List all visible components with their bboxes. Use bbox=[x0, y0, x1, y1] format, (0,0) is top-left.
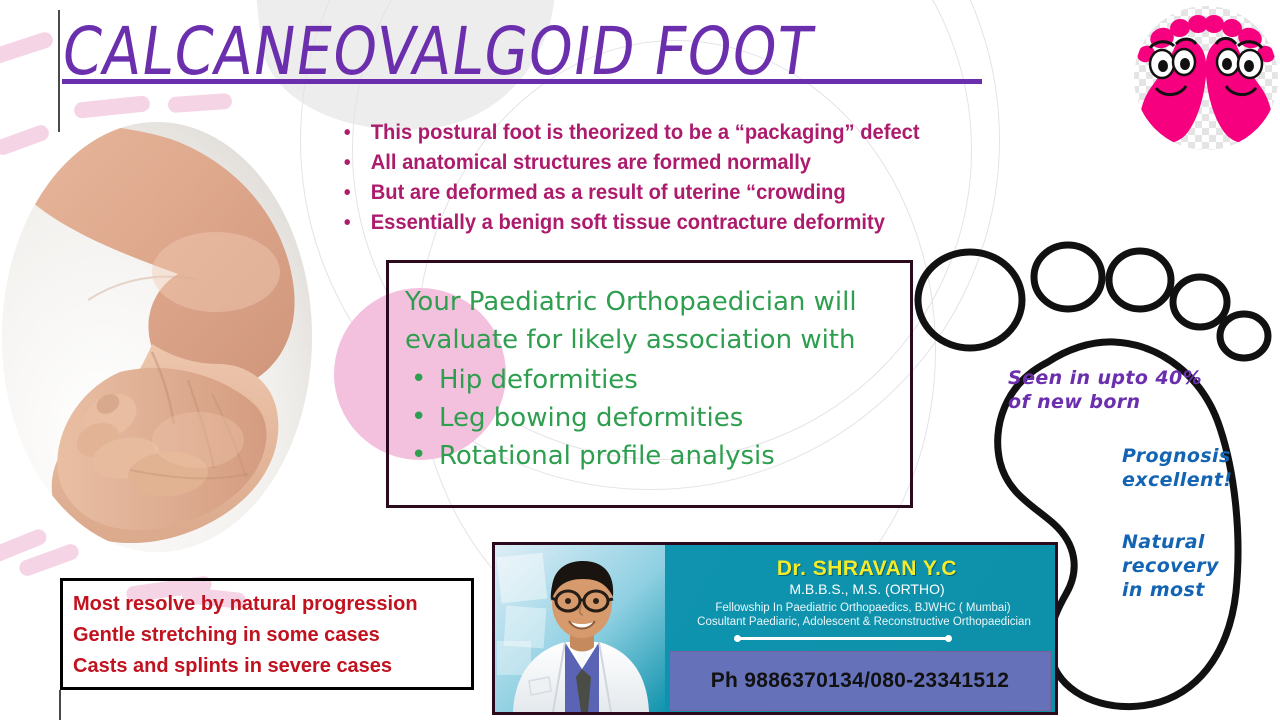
evaluation-intro-line1: Your Paediatric Orthopaedician will bbox=[405, 283, 896, 321]
prognosis-note: Prognosis excellent! bbox=[1122, 444, 1252, 492]
doctor-portrait-photo bbox=[495, 545, 665, 712]
list-item: Essentially a benign soft tissue contrac… bbox=[340, 208, 1118, 235]
prognosis-note-line1: Prognosis bbox=[1122, 444, 1252, 468]
doctor-fellowship: Fellowship In Paediatric Orthopaedics, B… bbox=[667, 602, 1058, 614]
slide-canvas: CALCANEOVALGOID FOOT bbox=[0, 0, 1280, 720]
doctor-card: Dr. SHRAVAN Y.C M.B.B.S., M.S. (ORTHO) F… bbox=[492, 542, 1058, 715]
doctor-degree: M.B.B.S., M.S. (ORTHO) bbox=[677, 581, 1057, 597]
evaluation-box: Your Paediatric Orthopaedician will eval… bbox=[386, 260, 913, 508]
evaluation-intro-line2: evaluate for likely association with bbox=[405, 321, 896, 359]
happy-feet-logo bbox=[1132, 2, 1280, 159]
list-item: Rotational profile analysis bbox=[405, 437, 896, 475]
doctor-phone-band[interactable]: Ph 9886370134/080-23341512 bbox=[669, 651, 1051, 711]
pink-dash-4 bbox=[168, 93, 233, 113]
treatment-line-3: Casts and splints in severe cases bbox=[73, 651, 461, 682]
description-bullet-list: This postural foot is theorized to be a … bbox=[340, 118, 1150, 235]
pink-dash-2 bbox=[73, 95, 150, 119]
baby-foot-clinical-photo bbox=[2, 122, 312, 552]
doctor-phone-number: Ph 9886370134/080-23341512 bbox=[711, 669, 1010, 693]
treatment-line-1: Most resolve by natural progression bbox=[73, 589, 461, 620]
pink-dash-3 bbox=[0, 123, 51, 157]
title-underline bbox=[62, 79, 982, 84]
left-vertical-rule-bottom bbox=[59, 690, 61, 720]
recovery-note-line2: recovery bbox=[1122, 554, 1242, 578]
treatment-line-2: Gentle stretching in some cases bbox=[73, 620, 461, 651]
list-item: Leg bowing deformities bbox=[405, 399, 896, 437]
prevalence-note-line1: Seen in upto 40% bbox=[1008, 366, 1240, 390]
doctor-role: Cosultant Paediaric, Adolescent & Recons… bbox=[665, 616, 1058, 628]
prognosis-note-line2: excellent! bbox=[1122, 468, 1252, 492]
recovery-note-line1: Natural bbox=[1122, 530, 1242, 554]
recovery-note-line3: in most bbox=[1122, 578, 1242, 602]
evaluation-item-list: Hip deformities Leg bowing deformities R… bbox=[405, 361, 896, 475]
list-item: All anatomical structures are formed nor… bbox=[340, 148, 1118, 178]
list-item: But are deformed as a result of uterine … bbox=[340, 178, 1118, 208]
doctor-divider bbox=[737, 637, 949, 640]
treatment-box: Most resolve by natural progression Gent… bbox=[60, 578, 474, 690]
doctor-name: Dr. SHRAVAN Y.C bbox=[677, 557, 1057, 581]
recovery-note: Natural recovery in most bbox=[1122, 530, 1242, 602]
list-item: Hip deformities bbox=[405, 361, 896, 399]
prevalence-note: Seen in upto 40% of new born bbox=[1008, 366, 1240, 414]
prevalence-note-line2: of new born bbox=[1008, 390, 1240, 414]
list-item: This postural foot is theorized to be a … bbox=[340, 118, 1118, 148]
pink-dash-1 bbox=[0, 30, 55, 66]
